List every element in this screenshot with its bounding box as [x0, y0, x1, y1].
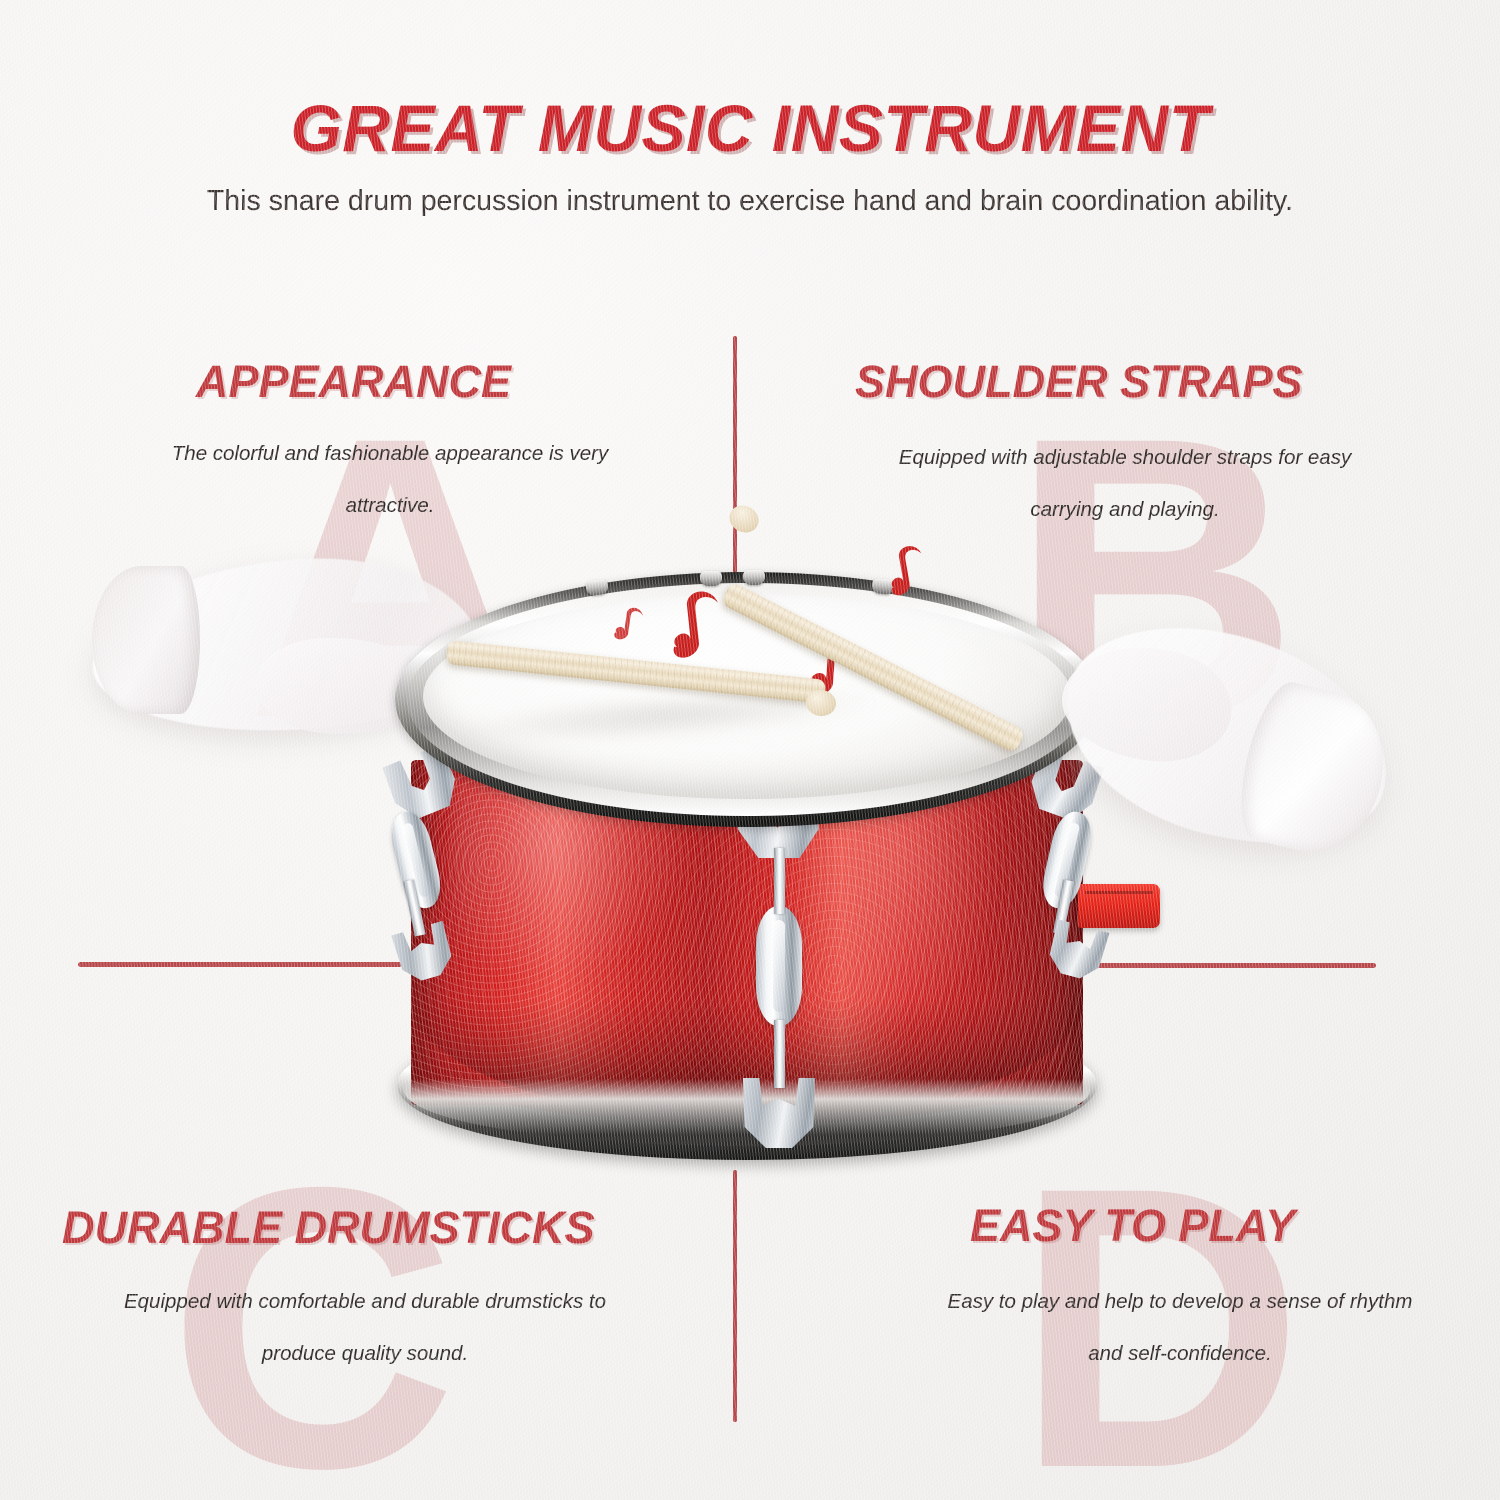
feature-body-line: attractive. — [150, 480, 630, 532]
rim-screw — [871, 578, 894, 595]
feature-body-line: Equipped with adjustable shoulder straps… — [880, 432, 1370, 484]
feature-heading-appearance: APPEARANCE — [196, 356, 511, 408]
feature-body-easy-to-play: Easy to play and help to develop a sense… — [925, 1276, 1435, 1381]
divider-horizontal-right — [1062, 963, 1376, 968]
rim-screw — [585, 579, 608, 596]
chrome-hoop-bottom-inner — [418, 1002, 1076, 1124]
feature-body-line: Equipped with comfortable and durable dr… — [110, 1276, 620, 1328]
drumstick-right-tip — [725, 501, 764, 538]
drumstick-left-tip — [805, 689, 838, 718]
rim-screw — [743, 570, 765, 585]
feature-body-line: The colorful and fashionable appearance … — [150, 428, 630, 480]
divider-vertical-bottom — [733, 1170, 737, 1422]
feature-heading-easy-to-play: EASY TO PLAY — [970, 1200, 1295, 1252]
feature-body-line: and self-confidence. — [925, 1328, 1435, 1380]
divider-vertical-top — [733, 336, 737, 766]
feature-body-line: produce quality sound. — [110, 1328, 620, 1380]
feature-body-line: carrying and playing. — [880, 484, 1370, 536]
infographic-page: A B C D GREAT MUSIC INSTRUMENT This snar… — [0, 0, 1500, 1500]
feature-body-line: Easy to play and help to develop a sense… — [925, 1276, 1435, 1328]
chrome-hoop-bottom-ring — [404, 1034, 1090, 1146]
drumstick-right — [720, 581, 1025, 753]
drum-shell-shading — [411, 1000, 1083, 1120]
drum-shell-sparkle — [411, 760, 1083, 1105]
feature-body-durable-drumsticks: Equipped with comfortable and durable dr… — [110, 1276, 620, 1381]
page-subtitle: This snare drum percussion instrument to… — [0, 185, 1500, 218]
chrome-hoop-bottom — [397, 1010, 1097, 1160]
feature-heading-shoulder-straps: SHOULDER STRAPS — [855, 356, 1303, 408]
music-note-icon — [664, 583, 732, 665]
glove-cuff-left — [92, 566, 200, 714]
feature-body-shoulder-straps: Equipped with adjustable shoulder straps… — [880, 432, 1370, 537]
music-note-icon — [806, 631, 864, 703]
shoulder-strap — [1078, 884, 1160, 928]
page-title: GREAT MUSIC INSTRUMENT — [0, 90, 1500, 166]
music-note-icon — [882, 539, 935, 602]
feature-body-appearance: The colorful and fashionable appearance … — [150, 428, 630, 533]
rim-screw — [700, 571, 722, 586]
drum-shell — [411, 760, 1083, 1105]
feature-heading-durable-drumsticks: DURABLE DRUMSTICKS — [62, 1202, 595, 1254]
music-note-icon — [612, 602, 649, 647]
divider-horizontal-left — [78, 962, 402, 967]
